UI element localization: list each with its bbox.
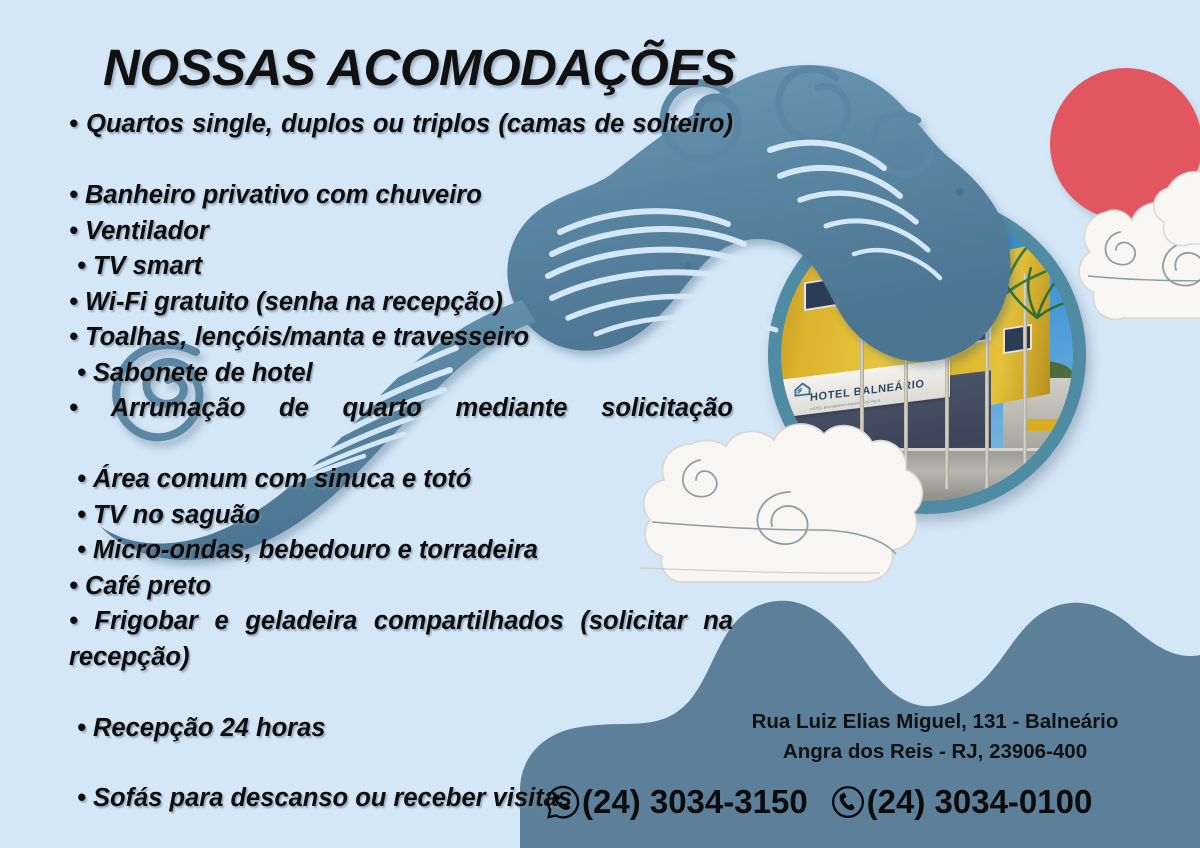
list-item: • Quartos single, duplos ou triplos (cam… bbox=[69, 107, 733, 178]
page-title: NOSSAS ACOMODAÇÕES bbox=[103, 38, 735, 97]
telephone-number: (24) 3034-0100 bbox=[867, 783, 1093, 821]
address-line-2: Angra dos Reis - RJ, 23906-400 bbox=[700, 737, 1170, 767]
list-item: • TV smart bbox=[69, 249, 733, 285]
contact-phones: (24) 3034-3150 (24) 3034-0100 bbox=[545, 783, 1165, 821]
address-line-1: Rua Luiz Elias Miguel, 131 - Balneário bbox=[700, 707, 1170, 737]
poster-canvas: HOTEL BALNEÁRIO HOTEL BALNEARIO ANGRA DO… bbox=[0, 0, 1200, 848]
phone-icon bbox=[830, 784, 866, 820]
list-item: • Micro-ondas, bebedouro e torradeira bbox=[69, 533, 733, 569]
address-block: Rua Luiz Elias Miguel, 131 - Balneário A… bbox=[700, 707, 1170, 767]
list-item: • Frigobar e geladeira compartilhados (s… bbox=[69, 604, 733, 711]
list-item: • Sabonete de hotel bbox=[69, 356, 733, 392]
list-item: • Arrumação de quarto mediante solicitaç… bbox=[69, 391, 733, 462]
whatsapp-contact[interactable]: (24) 3034-3150 bbox=[545, 783, 808, 821]
whatsapp-number: (24) 3034-3150 bbox=[582, 783, 808, 821]
telephone-contact[interactable]: (24) 3034-0100 bbox=[830, 783, 1093, 821]
list-item: • Ventilador bbox=[69, 214, 733, 250]
list-item: • Banheiro privativo com chuveiro bbox=[69, 178, 733, 214]
whatsapp-icon bbox=[545, 784, 581, 820]
list-item: • Café preto bbox=[69, 569, 733, 605]
list-item: • TV no saguão bbox=[69, 498, 733, 534]
list-item: • Wi-Fi gratuito (senha na recepção) bbox=[69, 285, 733, 321]
amenities-list: • Quartos single, duplos ou triplos (cam… bbox=[69, 107, 733, 817]
list-item: • Área comum com sinuca e totó bbox=[69, 462, 733, 498]
list-item: • Toalhas, lençóis/manta e travesseiro bbox=[69, 320, 733, 356]
list-item: • Recepção 24 horas bbox=[69, 711, 733, 747]
